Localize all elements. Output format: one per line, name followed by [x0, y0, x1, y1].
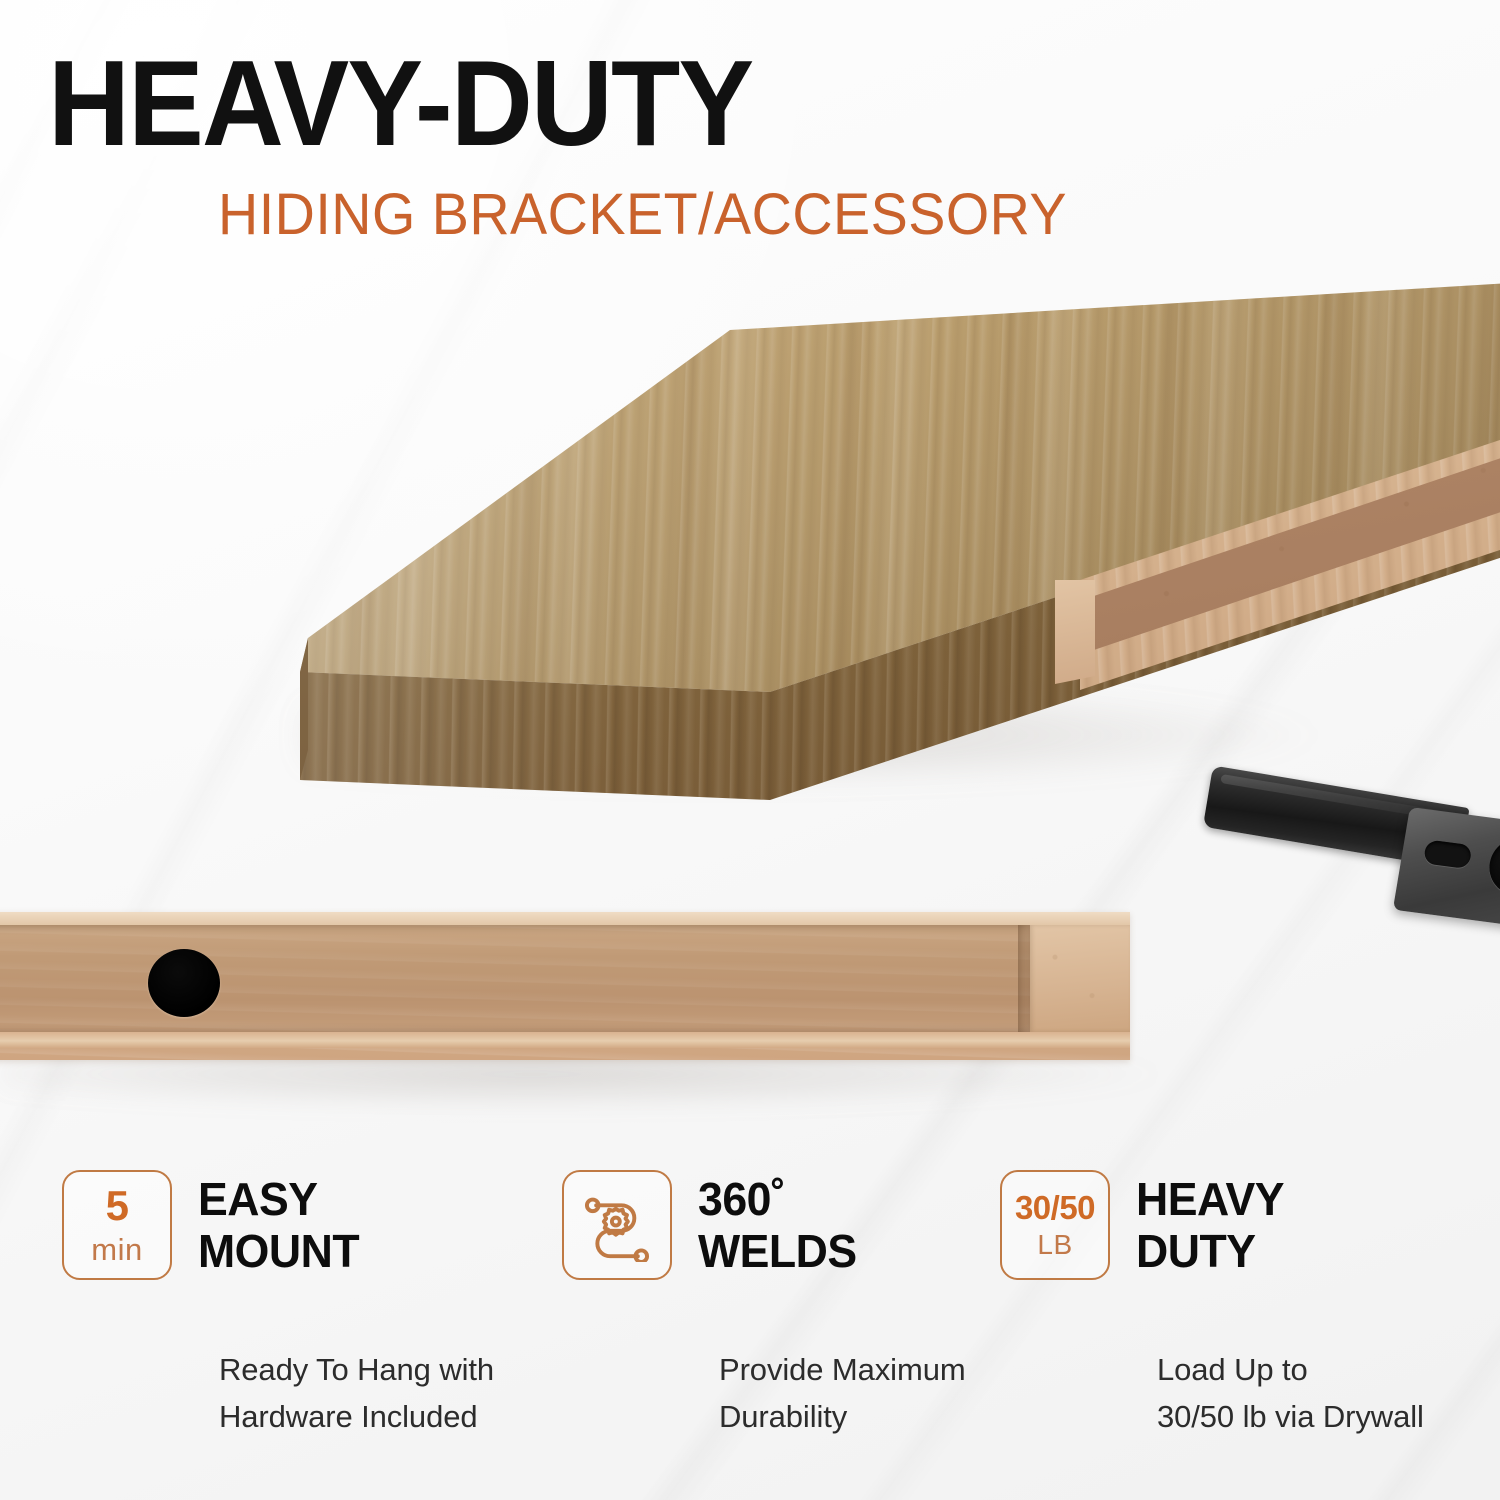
feature-360-welds: 360˚ WELDS Provide Maximum Durability [500, 1170, 970, 1470]
badge-value: 30/50 [1015, 1191, 1095, 1224]
feature-title-line2: MOUNT [198, 1226, 359, 1278]
rear-channel-end-cap [1030, 925, 1130, 1032]
feature-desc-line2: Hardware Included [219, 1393, 500, 1440]
feature-description: Provide Maximum Durability [562, 1346, 970, 1440]
weld-path-gear-icon [562, 1170, 672, 1280]
mounting-hole [148, 949, 220, 1017]
feature-desc-line1: Provide Maximum [719, 1346, 970, 1393]
feature-title-line2: WELDS [698, 1226, 857, 1278]
rear-channel-bottom-edge [0, 1032, 1130, 1048]
feature-header: 360˚ WELDS [562, 1170, 970, 1280]
feature-desc-line2: Durability [719, 1393, 970, 1440]
feature-title-line1: 360˚ [698, 1174, 857, 1226]
feature-title-line1: EASY [198, 1174, 359, 1226]
feature-title-line1: HEAVY [1136, 1174, 1284, 1226]
feature-desc-line2: 30/50 lb via Drywall [1157, 1393, 1500, 1440]
feature-header: 30/50 LB HEAVY DUTY [1000, 1170, 1500, 1280]
feature-desc-line1: Load Up to [1157, 1346, 1500, 1393]
shelf-rear-channel-image [0, 900, 1500, 1120]
five-minutes-badge: 5 min [62, 1170, 172, 1280]
feature-list: 5 min EASY MOUNT Ready To Hang with Hard… [0, 1170, 1500, 1470]
badge-unit: LB [1037, 1231, 1072, 1259]
bracket-round-hole [1485, 834, 1500, 899]
badge-unit: min [91, 1234, 142, 1265]
page-subtitle: HIDING BRACKET/ACCESSORY [218, 186, 1067, 244]
weld-path-gear-glyph [580, 1188, 654, 1262]
rear-channel-top-edge [0, 912, 1130, 925]
badge-value: 5 [106, 1185, 129, 1227]
feature-title: EASY MOUNT [198, 1170, 359, 1277]
weight-capacity-badge: 30/50 LB [1000, 1170, 1110, 1280]
feature-title: 360˚ WELDS [698, 1170, 857, 1277]
shelf-top-highlight [300, 280, 1500, 700]
feature-description: Ready To Hang with Hardware Included [62, 1346, 500, 1440]
feature-easy-mount: 5 min EASY MOUNT Ready To Hang with Hard… [0, 1170, 500, 1470]
feature-header: 5 min EASY MOUNT [62, 1170, 500, 1280]
feature-desc-line1: Ready To Hang with [219, 1346, 500, 1393]
hero-product-image [0, 250, 1500, 870]
page-title: HEAVY-DUTY [48, 42, 752, 164]
feature-title: HEAVY DUTY [1136, 1170, 1284, 1277]
bracket-oval-slot [1423, 839, 1473, 869]
feature-title-line2: DUTY [1136, 1226, 1284, 1278]
feature-description: Load Up to 30/50 lb via Drywall [1000, 1346, 1500, 1440]
feature-heavy-duty: 30/50 LB HEAVY DUTY Load Up to 30/50 lb … [970, 1170, 1500, 1470]
